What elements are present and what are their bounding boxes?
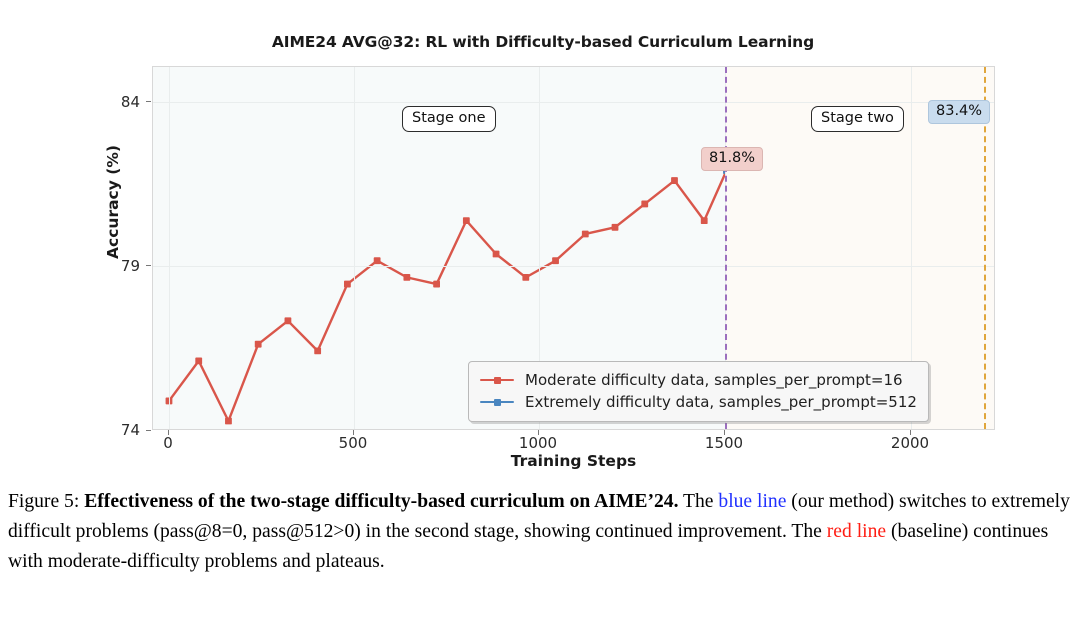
caption-red-line: red line [827, 521, 886, 542]
legend-label-moderate: Moderate difficulty data, samples_per_pr… [525, 371, 903, 389]
stage-one-annotation: Stage one [402, 106, 496, 132]
series-marker [671, 177, 678, 184]
series-marker [463, 217, 470, 224]
caption-bold: Effectiveness of the two-stage difficult… [84, 491, 678, 512]
x-axis-label: Training Steps [152, 452, 995, 470]
caption-prefix: Figure 5: [8, 491, 84, 512]
series-marker [701, 217, 708, 224]
chart-title: AIME24 AVG@32: RL with Difficulty-based … [0, 33, 1086, 51]
series-marker [522, 274, 529, 281]
series-marker [433, 281, 440, 288]
chart-legend: Moderate difficulty data, samples_per_pr… [468, 361, 929, 422]
gridline-y-84 [153, 102, 994, 103]
gridline-x-500 [354, 67, 355, 429]
series-marker [225, 418, 232, 425]
x-tick-2000: 2000 [875, 434, 945, 452]
legend-label-extreme: Extremely difficulty data, samples_per_p… [525, 393, 917, 411]
figure-area: AIME24 AVG@32: RL with Difficulty-based … [0, 0, 1086, 480]
x-tick-1500: 1500 [689, 434, 759, 452]
x-tick-0: 0 [133, 434, 203, 452]
figure-caption: Figure 5: Effectiveness of the two-stage… [8, 487, 1080, 577]
legend-item-moderate: Moderate difficulty data, samples_per_pr… [480, 369, 917, 391]
legend-swatch-blue-icon [480, 395, 514, 409]
series-marker [195, 357, 202, 364]
series-marker [552, 257, 559, 264]
series-marker [255, 341, 262, 348]
caption-text-1: The [678, 491, 718, 512]
gridline-x-0 [169, 67, 170, 429]
series-marker [374, 257, 381, 264]
legend-item-extreme: Extremely difficulty data, samples_per_p… [480, 391, 917, 413]
gridline-y-79 [153, 266, 994, 267]
y-axis-label: Accuracy (%) [104, 87, 122, 317]
series-marker [641, 201, 648, 208]
series-marker [582, 231, 589, 238]
series-marker [285, 317, 292, 324]
series-marker [344, 281, 351, 288]
red-peak-annotation: 81.8% [701, 147, 763, 171]
x-tick-1000: 1000 [503, 434, 573, 452]
x-tick-500: 500 [318, 434, 388, 452]
caption-blue-line: blue line [718, 491, 786, 512]
series-marker [403, 274, 410, 281]
blue-peak-annotation: 83.4% [928, 100, 990, 124]
series-marker [493, 251, 500, 258]
series-marker [612, 224, 619, 231]
y-tick-74: 74 [85, 421, 140, 439]
legend-swatch-red-icon [480, 373, 514, 387]
stage-two-annotation: Stage two [811, 106, 904, 132]
series-marker [314, 347, 321, 354]
